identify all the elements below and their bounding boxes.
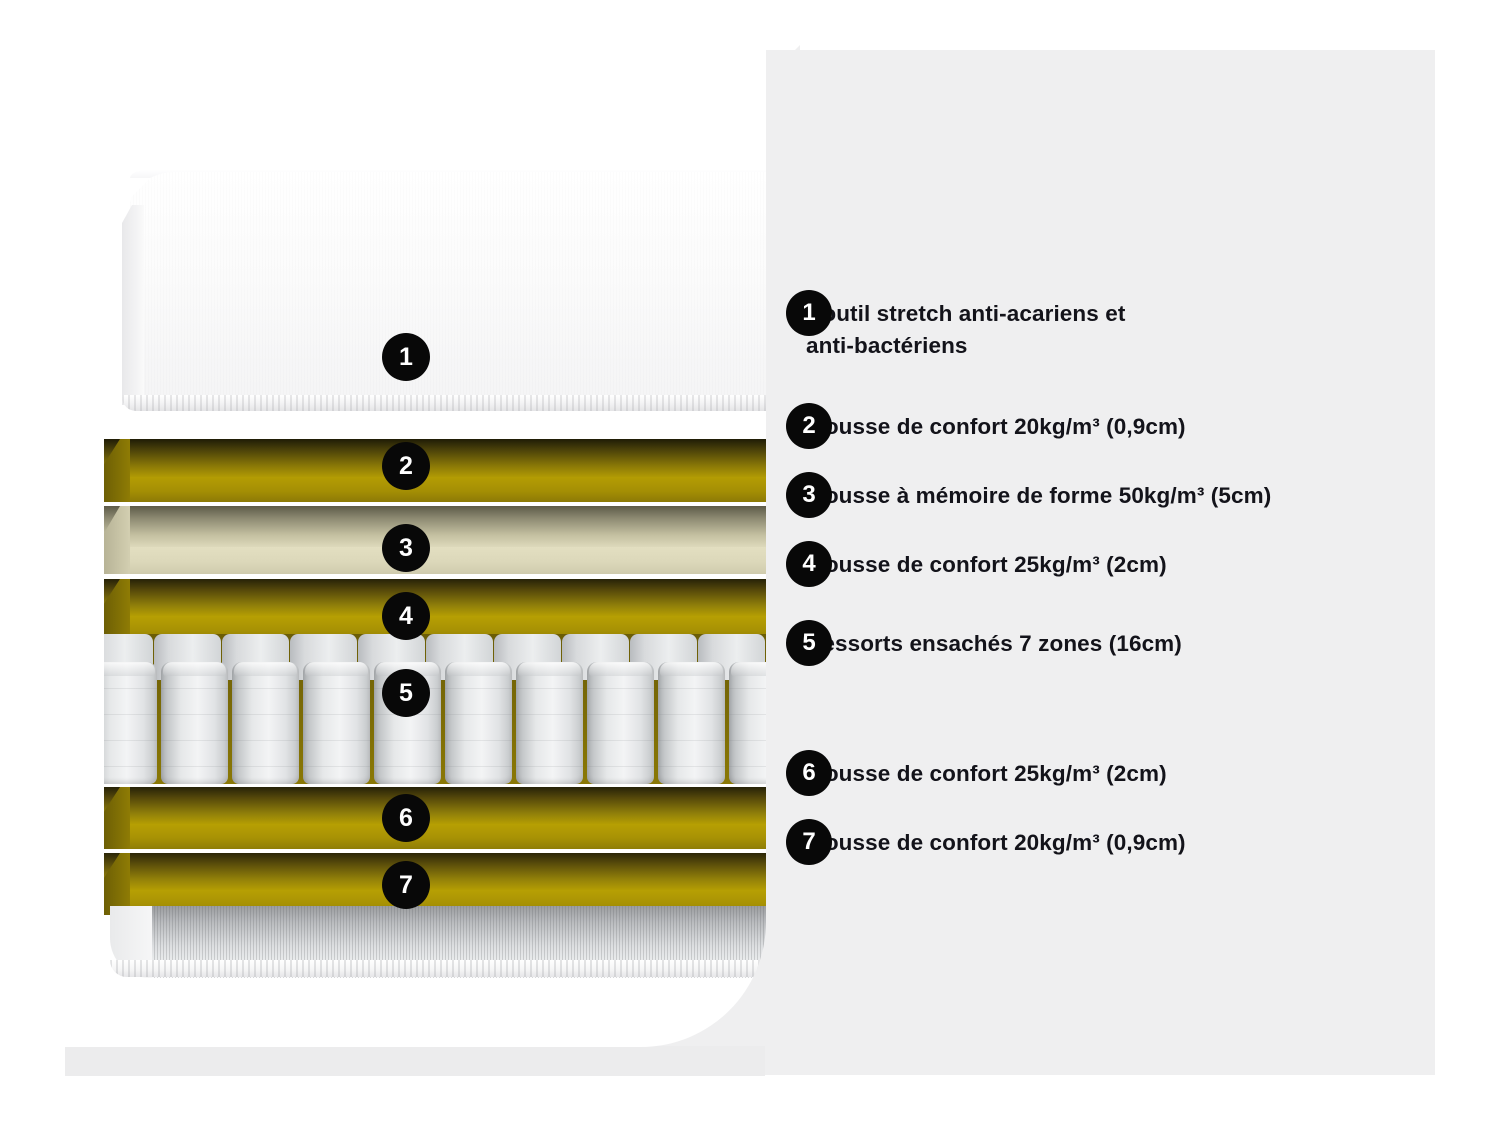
legend-badge-4: 4 bbox=[786, 541, 832, 587]
legend-label-4: Mousse de confort 25kg/m³ (2cm) bbox=[806, 541, 1167, 581]
legend-badge-5: 5 bbox=[786, 620, 832, 666]
mattress-layer-cover-side-wall bbox=[122, 205, 144, 405]
layer-3-top-face bbox=[104, 506, 766, 547]
mattress-layer-5-pocket-springs bbox=[104, 634, 766, 784]
legend-badge-2: 2 bbox=[786, 403, 832, 449]
stack-badge-3: 3 bbox=[382, 524, 430, 572]
stack-badge-6: 6 bbox=[382, 794, 430, 842]
layer-4-top-face bbox=[104, 579, 766, 616]
mattress-layer-4-foam bbox=[104, 579, 766, 641]
legend-item-6: 6Mousse de confort 25kg/m³ (2cm) bbox=[786, 750, 1167, 790]
legend-badge-3: 3 bbox=[786, 472, 832, 518]
legend-label-3: Mousse à mémoire de forme 50kg/m³ (5cm) bbox=[806, 472, 1271, 512]
pocket-spring bbox=[445, 662, 512, 784]
mattress-layer-2-foam bbox=[104, 439, 766, 502]
legend-label-1: Coutil stretch anti-acariens et anti-bac… bbox=[806, 290, 1125, 362]
stack-badge-4: 4 bbox=[382, 592, 430, 640]
legend-item-7: 7Mousse de confort 20kg/m³ (0,9cm) bbox=[786, 819, 1186, 859]
layer-2-top-face bbox=[104, 439, 766, 477]
layer-6-front-face bbox=[104, 824, 766, 849]
legend-label-6: Mousse de confort 25kg/m³ (2cm) bbox=[806, 750, 1167, 790]
legend-badge-6: 6 bbox=[786, 750, 832, 796]
spring-row-front bbox=[104, 662, 766, 784]
layer-2-front-face bbox=[104, 477, 766, 502]
pocket-spring bbox=[658, 662, 725, 784]
legend-item-2: 2Mousse de confort 20kg/m³ (0,9cm) bbox=[786, 403, 1186, 443]
pocket-spring bbox=[729, 662, 766, 784]
legend-badge-1: 1 bbox=[786, 290, 832, 336]
mattress-layer-1-cover bbox=[130, 172, 766, 407]
mattress-illustration: 1234567 bbox=[60, 30, 766, 1047]
background-bottom-band bbox=[65, 1046, 765, 1076]
mattress-layer-6-foam bbox=[104, 787, 766, 849]
mattress-layers-infographic: 1234567 1Coutil stretch anti-acariens et… bbox=[0, 0, 1500, 1125]
mattress-layer-cover-hem bbox=[122, 395, 766, 411]
stack-badge-5: 5 bbox=[382, 669, 430, 717]
legend-item-5: 5Ressorts ensachés 7 zones (16cm) bbox=[786, 620, 1182, 660]
mattress-base-piping bbox=[110, 960, 766, 977]
legend-item-3: 3Mousse à mémoire de forme 50kg/m³ (5cm) bbox=[786, 472, 1271, 512]
legend-item-1: 1Coutil stretch anti-acariens et anti-ba… bbox=[786, 290, 1125, 362]
pocket-spring bbox=[303, 662, 370, 784]
pocket-spring bbox=[516, 662, 583, 784]
layer-3-front-face bbox=[104, 547, 766, 574]
stack-badge-7: 7 bbox=[382, 861, 430, 909]
legend-label-2: Mousse de confort 20kg/m³ (0,9cm) bbox=[806, 403, 1186, 443]
pocket-spring bbox=[587, 662, 654, 784]
mattress-layer-3-memory-foam bbox=[104, 506, 766, 574]
layer-7-top-face bbox=[104, 853, 766, 890]
legend-label-5: Ressorts ensachés 7 zones (16cm) bbox=[806, 620, 1182, 660]
pocket-spring bbox=[161, 662, 228, 784]
pocket-spring bbox=[104, 662, 157, 784]
legend-label-7: Mousse de confort 20kg/m³ (0,9cm) bbox=[806, 819, 1186, 859]
stack-badge-2: 2 bbox=[382, 442, 430, 490]
stack-badge-1: 1 bbox=[382, 333, 430, 381]
legend-badge-7: 7 bbox=[786, 819, 832, 865]
pocket-spring bbox=[232, 662, 299, 784]
legend-item-4: 4Mousse de confort 25kg/m³ (2cm) bbox=[786, 541, 1167, 581]
layer-6-top-face bbox=[104, 787, 766, 824]
